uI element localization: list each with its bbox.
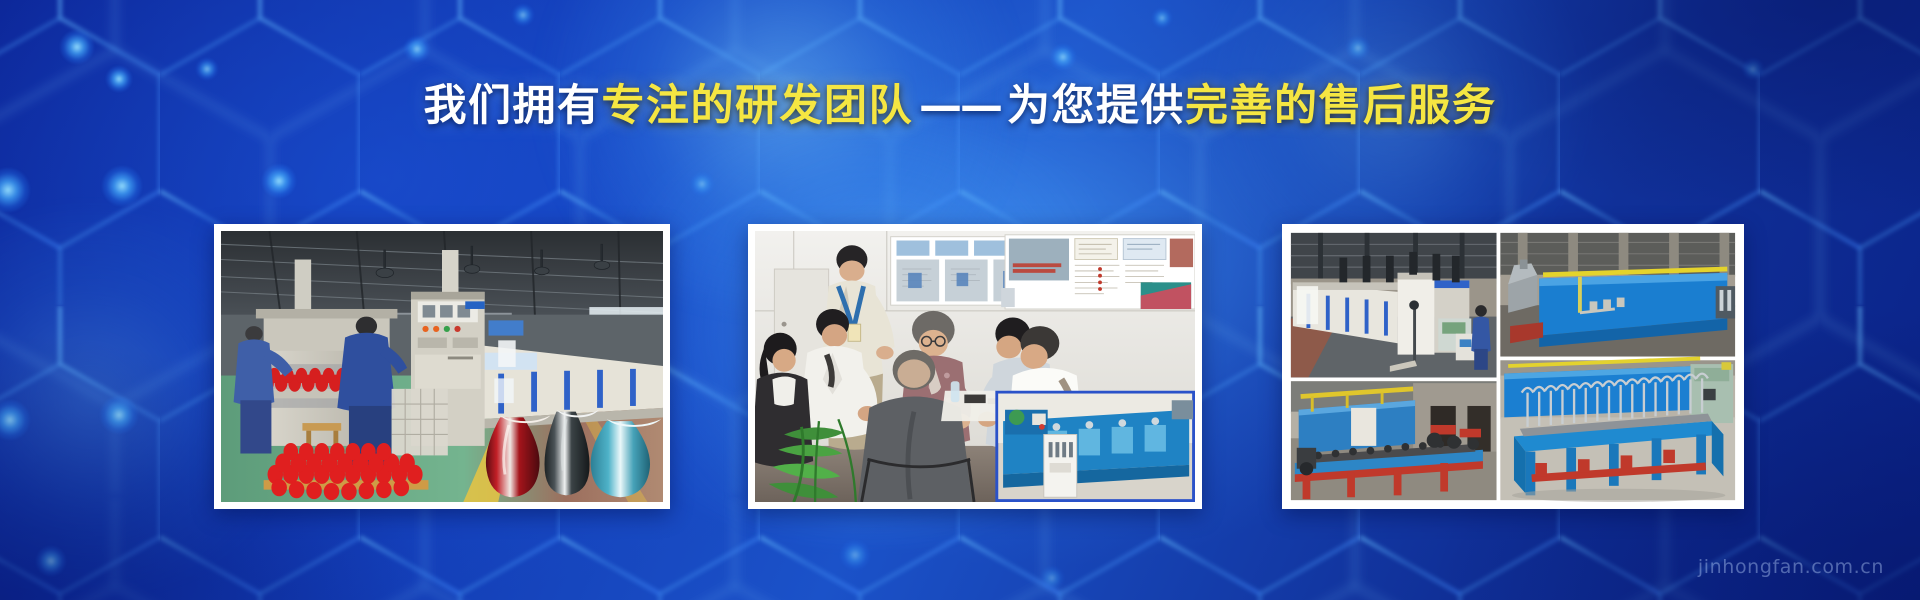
gallery-card-production-line[interactable]: [214, 224, 670, 509]
photo-gallery: [0, 224, 1920, 514]
network-node-icon: [102, 166, 142, 206]
banner-root: 我们拥有专注的研发团队——为您提供完善的售后服务: [0, 0, 1920, 600]
network-node-icon: [1050, 44, 1076, 70]
gallery-card-equipment-collage[interactable]: [1282, 224, 1744, 509]
headline-segment-1: 我们拥有: [424, 81, 602, 131]
headline-segment-3: 为您提供: [1007, 81, 1185, 131]
photo-customer-meeting: [755, 231, 1195, 502]
gallery-card-customer-meeting[interactable]: [748, 224, 1202, 509]
network-node-icon: [1742, 58, 1764, 80]
network-node-icon: [1040, 566, 1064, 590]
network-node-icon: [36, 546, 66, 576]
page-title: 我们拥有专注的研发团队——为您提供完善的售后服务: [0, 78, 1920, 134]
headline-segment-4: 完善的售后服务: [1185, 81, 1497, 131]
photo-production-line: [221, 231, 663, 502]
network-node-icon: [690, 172, 714, 196]
network-node-icon: [0, 168, 30, 212]
network-node-icon: [512, 4, 534, 26]
network-node-icon: [262, 164, 296, 198]
network-node-icon: [404, 36, 430, 62]
network-node-icon: [196, 58, 218, 80]
photo-equipment-collage: [1289, 231, 1737, 502]
headline-dash: ——: [913, 81, 1007, 131]
network-node-icon: [60, 30, 94, 64]
network-node-icon: [1346, 36, 1370, 60]
network-node-icon: [840, 540, 870, 570]
network-node-icon: [1152, 8, 1172, 28]
headline-segment-2: 专注的研发团队: [602, 81, 914, 131]
watermark: jinhongfan.com.cn: [1698, 556, 1884, 578]
